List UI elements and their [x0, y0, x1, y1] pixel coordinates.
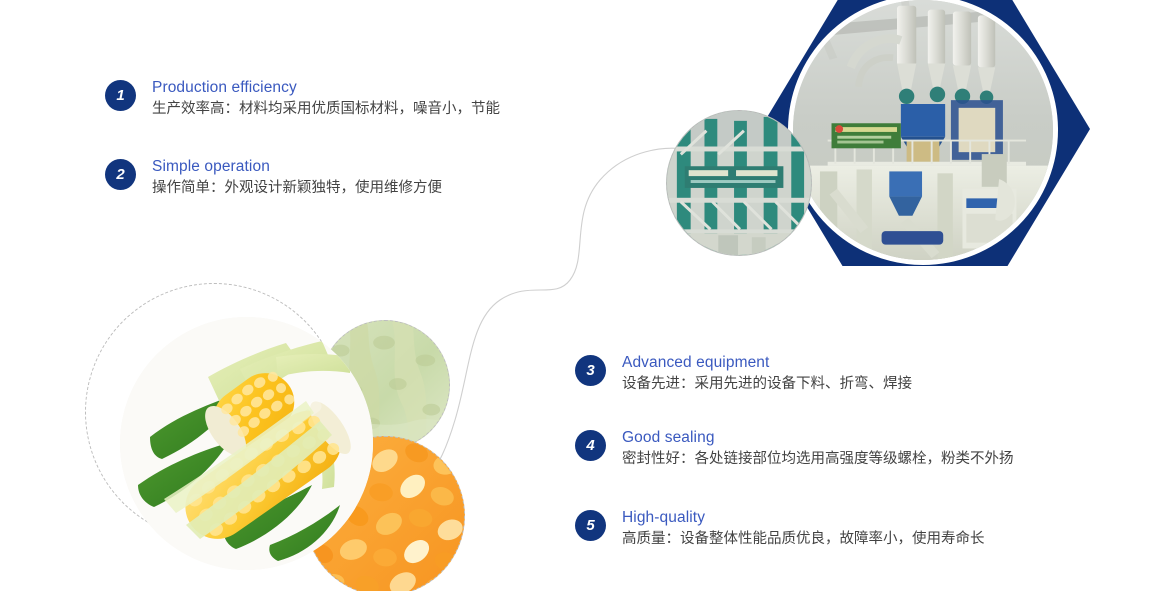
feature-description: 操作简单：外观设计新颖独特，使用维修方便 — [152, 178, 442, 199]
feature-item-3[interactable]: 3 Advanced equipment 设备先进：采用先进的设备下料、折弯、焊… — [575, 353, 912, 395]
feature-description: 设备先进：采用先进的设备下料、折弯、焊接 — [622, 374, 912, 395]
corn-image-group — [85, 281, 485, 591]
feature-title: Good sealing — [622, 428, 1014, 448]
feature-badge-number: 1 — [105, 80, 136, 111]
feature-badge-number: 5 — [575, 510, 606, 541]
feature-description: 高质量：设备整体性能品质优良，故障率小，使用寿命长 — [622, 529, 985, 550]
feature-item-4[interactable]: 4 Good sealing 密封性好：各处链接部位均选用高强度等级螺栓，粉类不… — [575, 428, 1014, 470]
feature-item-2[interactable]: 2 Simple operation 操作简单：外观设计新颖独特，使用维修方便 — [105, 157, 442, 199]
feature-description: 密封性好：各处链接部位均选用高强度等级螺栓，粉类不外扬 — [622, 449, 1014, 470]
feature-title: Production efficiency — [152, 78, 500, 98]
feature-description: 生产效率高：材料均采用优质国标材料，噪音小，节能 — [152, 99, 500, 120]
feature-text-block: Good sealing 密封性好：各处链接部位均选用高强度等级螺栓，粉类不外扬 — [622, 428, 1014, 470]
corn-cobs-photo — [120, 317, 373, 570]
feature-title: Advanced equipment — [622, 353, 912, 373]
feature-badge-number: 3 — [575, 355, 606, 386]
feature-item-1[interactable]: 1 Production efficiency 生产效率高：材料均采用优质国标材… — [105, 78, 500, 120]
factory-image-group — [660, 0, 1154, 282]
feature-text-block: Simple operation 操作简单：外观设计新颖独特，使用维修方便 — [152, 157, 442, 199]
factory-small-photo — [666, 110, 812, 256]
feature-title: Simple operation — [152, 157, 442, 177]
feature-badge-number: 4 — [575, 430, 606, 461]
factory-large-photo — [788, 0, 1058, 265]
feature-text-block: High-quality 高质量：设备整体性能品质优良，故障率小，使用寿命长 — [622, 508, 985, 550]
feature-poster: 1 Production efficiency 生产效率高：材料均采用优质国标材… — [0, 0, 1154, 591]
feature-text-block: Advanced equipment 设备先进：采用先进的设备下料、折弯、焊接 — [622, 353, 912, 395]
feature-badge-number: 2 — [105, 159, 136, 190]
feature-title: High-quality — [622, 508, 985, 528]
feature-text-block: Production efficiency 生产效率高：材料均采用优质国标材料，… — [152, 78, 500, 120]
feature-item-5[interactable]: 5 High-quality 高质量：设备整体性能品质优良，故障率小，使用寿命长 — [575, 508, 985, 550]
